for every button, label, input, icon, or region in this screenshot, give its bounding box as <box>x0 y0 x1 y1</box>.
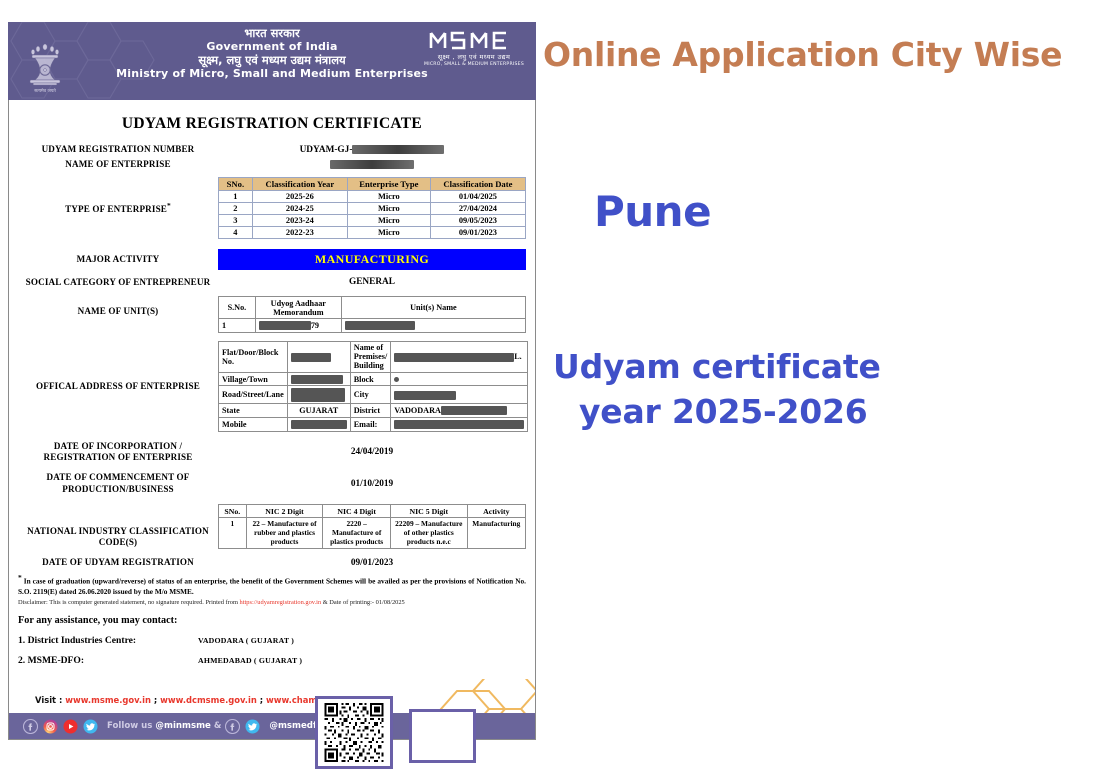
field-label-state: State <box>219 404 288 418</box>
screenshot-root: सत्यमेव जयते भारत सरकार Government of In… <box>0 0 1116 753</box>
header-english-line-2: Ministry of Micro, Small and Medium Ente… <box>8 67 536 80</box>
twitter-icon-secondary[interactable] <box>245 719 260 734</box>
redaction-bar <box>394 377 399 382</box>
major-activity-label: MAJOR ACTIVITY <box>18 254 218 265</box>
field-value-flat <box>287 341 350 372</box>
commencement-date-value: 01/10/2019 <box>218 479 526 489</box>
twitter-icon[interactable] <box>83 719 98 734</box>
units-label: NAME OF UNIT(S) <box>18 296 218 317</box>
visit-link-msme[interactable]: www.msme.gov.in <box>65 695 151 705</box>
table-row: Road/Street/Lane City <box>219 386 528 404</box>
redaction-bar <box>291 388 345 402</box>
field-value-email <box>391 417 528 431</box>
incorporation-date-row: DATE OF INCORPORATION / REGISTRATION OF … <box>18 441 526 464</box>
major-activity-value: MANUFACTURING <box>218 249 526 270</box>
cell-sno: 4 <box>219 226 253 238</box>
nic-table: SNo. NIC 2 Digit NIC 4 Digit NIC 5 Digit… <box>218 504 526 549</box>
table-header-row: S.No. Udyog Aadhaar Memorandum Unit(s) N… <box>219 297 526 319</box>
col-sno: SNo. <box>219 177 253 190</box>
table-row: 1 79 <box>219 319 526 333</box>
annotation-subtitle-line1: Udyam certificate <box>553 347 881 386</box>
msme-wordmark-icon <box>428 30 520 50</box>
field-label-block: Block <box>350 372 391 386</box>
table-row: Flat/Door/Block No. Name of Premises/ Bu… <box>219 341 528 372</box>
cell-date: 01/04/2025 <box>430 190 525 202</box>
col-uam: Udyog Aadhaar Memorandum <box>255 297 341 319</box>
field-label-mobile: Mobile <box>219 417 288 431</box>
follow-us-text: Follow us @minmsme & <box>107 721 221 731</box>
enterprise-name-row: NAME OF ENTERPRISE <box>18 159 526 170</box>
table-row: 1 22 – Manufacture of rubber and plastic… <box>219 518 526 549</box>
udyam-registration-date-label: DATE OF UDYAM REGISTRATION <box>18 557 218 568</box>
col-unit-name: Unit(s) Name <box>341 297 525 319</box>
field-label-city: City <box>350 386 391 404</box>
cell-type: Micro <box>347 226 430 238</box>
units-row: NAME OF UNIT(S) S.No. Udyog Aadhaar Memo… <box>18 296 526 333</box>
table-row: 3 2023-24 Micro 09/05/2023 <box>219 214 526 226</box>
disclaimer-suffix: & Date of printing:- 01/08/2025 <box>321 599 405 606</box>
col-activity: Activity <box>467 505 525 518</box>
certificate-title: UDYAM REGISTRATION CERTIFICATE <box>18 115 526 133</box>
table-row: Village/Town Block <box>219 372 528 386</box>
redaction-bar <box>259 321 311 330</box>
table-row: 4 2022-23 Micro 09/01/2023 <box>219 226 526 238</box>
field-value-district: VADODARA <box>391 404 528 418</box>
col-sno: SNo. <box>219 505 247 518</box>
asterisk-marker: * <box>167 201 171 210</box>
contact-label: 1. District Industries Centre: <box>18 635 198 646</box>
cell-date: 27/04/2024 <box>430 202 525 214</box>
cell-sno: 1 <box>219 518 247 549</box>
col-classification-date: Classification Date <box>430 177 525 190</box>
social-category-row: SOCIAL CATEGORY OF ENTREPRENEUR GENERAL <box>18 277 526 288</box>
field-label-email: Email: <box>350 417 391 431</box>
visit-sep: ; <box>257 695 266 705</box>
annotation-panel: Online Application City Wise Pune Udyam … <box>540 0 1116 753</box>
disclaimer-line: Disclaimer: This is computer generated s… <box>18 599 526 607</box>
field-value-city <box>391 386 528 404</box>
col-nic-5-digit: NIC 5 Digit <box>390 505 467 518</box>
msme-logo-subtitle-english: MICRO, SMALL & MEDIUM ENTERPRISES <box>422 62 526 67</box>
cell-uam: 79 <box>255 319 341 333</box>
cell-sno: 1 <box>219 319 256 333</box>
empty-placeholder-box <box>409 709 476 763</box>
redaction-bar <box>291 353 331 362</box>
field-value-mobile <box>287 417 350 431</box>
redaction-bar <box>394 391 456 400</box>
registration-number-label: UDYAM REGISTRATION NUMBER <box>18 144 218 155</box>
contact-label: 2. MSME-DFO: <box>18 655 198 666</box>
cell-sno: 1 <box>219 190 253 202</box>
follow-handle-minmsme[interactable]: @minmsme <box>155 721 210 731</box>
enterprise-type-table: SNo. Classification Year Enterprise Type… <box>218 177 526 239</box>
table-row: 1 2025-26 Micro 01/04/2025 <box>219 190 526 202</box>
facebook-icon[interactable] <box>23 719 38 734</box>
svg-text:सत्यमेव जयते: सत्यमेव जयते <box>34 88 56 94</box>
col-nic-4-digit: NIC 4 Digit <box>323 505 391 518</box>
cell-year: 2022-23 <box>252 226 347 238</box>
cell-nic-4-digit: 2220 – Manufacture of plastics products <box>323 518 391 549</box>
cell-year: 2023-24 <box>252 214 347 226</box>
redaction-bar <box>394 420 524 429</box>
cell-year: 2024-25 <box>252 202 347 214</box>
field-value-premises: L. <box>391 341 528 372</box>
cell-unit-name <box>341 319 525 333</box>
field-label-premises: Name of Premises/ Building <box>350 341 391 372</box>
field-value-state: GUJARAT <box>287 404 350 418</box>
disclaimer-url[interactable]: https://udyamregistration.gov.in <box>240 599 322 606</box>
annotation-subtitle-line2: year 2025-2026 <box>579 390 881 435</box>
udyam-registration-date-row: DATE OF UDYAM REGISTRATION 09/01/2023 <box>18 557 526 568</box>
cell-date: 09/05/2023 <box>430 214 525 226</box>
government-header-banner: सत्यमेव जयते भारत सरकार Government of In… <box>8 22 536 100</box>
redaction-bar <box>291 420 347 429</box>
youtube-icon[interactable] <box>63 719 78 734</box>
cell-type: Micro <box>347 202 430 214</box>
contact-value: AHMEDABAD ( GUJARAT ) <box>198 656 302 665</box>
qr-code-image <box>320 701 388 764</box>
registration-number-value: UDYAM-GJ- <box>218 145 526 155</box>
social-category-label: SOCIAL CATEGORY OF ENTREPRENEUR <box>18 277 218 288</box>
redaction-bar <box>330 160 414 169</box>
incorporation-date-value: 24/04/2019 <box>218 447 526 457</box>
udyam-registration-date-value: 09/01/2023 <box>218 558 526 568</box>
contact-item-dfo: 2. MSME-DFO: AHMEDABAD ( GUJARAT ) <box>18 655 526 666</box>
cell-nic-5-digit: 22209 – Manufacture of other plastics pr… <box>390 518 467 549</box>
udyam-certificate-panel: सत्यमेव जयते भारत सरकार Government of In… <box>8 22 536 740</box>
incorporation-date-label: DATE OF INCORPORATION / REGISTRATION OF … <box>18 441 218 464</box>
cell-sno: 2 <box>219 202 253 214</box>
registration-number-prefix: UDYAM-GJ- <box>300 145 353 155</box>
field-label-flat: Flat/Door/Block No. <box>219 341 288 372</box>
social-category-value: GENERAL <box>218 277 526 287</box>
enterprise-name-label: NAME OF ENTERPRISE <box>18 159 218 170</box>
table-header-row: SNo. NIC 2 Digit NIC 4 Digit NIC 5 Digit… <box>219 505 526 518</box>
cell-date: 09/01/2023 <box>430 226 525 238</box>
graduation-footnote: * In case of graduation (upward/reverse)… <box>18 573 526 596</box>
table-row: State GUJARAT District VADODARA <box>219 404 528 418</box>
footnote-text: In case of graduation (upward/reverse) o… <box>18 577 526 596</box>
registration-number-row: UDYAM REGISTRATION NUMBER UDYAM-GJ- <box>18 144 526 155</box>
table-header-row: SNo. Classification Year Enterprise Type… <box>219 177 526 190</box>
msme-logo: सूक्ष्म , लघु एवं मध्यम उद्यम MICRO, SMA… <box>422 30 526 67</box>
field-value-road <box>287 386 350 404</box>
commencement-date-label: DATE OF COMMENCEMENT OF PRODUCTION/BUSIN… <box>18 472 218 495</box>
field-value-block <box>391 372 528 386</box>
major-activity-row: MAJOR ACTIVITY MANUFACTURING <box>18 249 526 270</box>
contact-value: VADODARA ( GUJARAT ) <box>198 636 294 645</box>
table-row: 2 2024-25 Micro 27/04/2024 <box>219 202 526 214</box>
col-enterprise-type: Enterprise Type <box>347 177 430 190</box>
annotation-title: Online Application City Wise <box>543 35 1062 74</box>
cell-type: Micro <box>347 214 430 226</box>
redaction-bar <box>352 145 444 154</box>
annotation-subtitle: Udyam certificate year 2025-2026 <box>553 345 881 434</box>
col-classification-year: Classification Year <box>252 177 347 190</box>
assistance-title: For any assistance, you may contact: <box>18 615 526 626</box>
cell-sno: 3 <box>219 214 253 226</box>
nic-row: NATIONAL INDUSTRY CLASSIFICATION CODE(S)… <box>18 504 526 549</box>
annotation-city: Pune <box>594 187 711 236</box>
visit-link-dcmsme[interactable]: www.dcmsme.gov.in <box>160 695 257 705</box>
address-table: Flat/Door/Block No. Name of Premises/ Bu… <box>218 341 528 432</box>
redaction-bar <box>345 321 415 330</box>
field-label-district: District <box>350 404 391 418</box>
table-row: Mobile Email: <box>219 417 528 431</box>
asterisk-marker: * <box>18 573 22 582</box>
address-label: OFFICAL ADDRESS OF ENTERPRISE <box>18 341 218 392</box>
units-table: S.No. Udyog Aadhaar Memorandum Unit(s) N… <box>218 296 526 333</box>
cell-nic-2-digit: 22 – Manufacture of rubber and plastics … <box>246 518 323 549</box>
col-nic-2-digit: NIC 2 Digit <box>246 505 323 518</box>
field-label-village: Village/Town <box>219 372 288 386</box>
follow-prefix: Follow us <box>107 721 155 731</box>
visit-sep: ; <box>151 695 160 705</box>
contact-item-dic: 1. District Industries Centre: VADODARA … <box>18 635 526 646</box>
redaction-bar <box>291 375 343 384</box>
facebook-icon-secondary[interactable] <box>225 719 240 734</box>
qr-code[interactable] <box>315 696 393 769</box>
enterprise-type-label: TYPE OF ENTERPRISE* <box>18 177 218 215</box>
cell-year: 2025-26 <box>252 190 347 202</box>
instagram-icon[interactable] <box>43 719 58 734</box>
cell-type: Micro <box>347 190 430 202</box>
col-sno: S.No. <box>219 297 256 319</box>
disclaimer-prefix: Disclaimer: This is computer generated s… <box>18 599 240 606</box>
certificate-body: UDYAM REGISTRATION CERTIFICATE UDYAM REG… <box>8 100 536 740</box>
follow-amp: & <box>211 721 222 731</box>
enterprise-type-row: TYPE OF ENTERPRISE* SNo. Classification … <box>18 177 526 239</box>
msme-logo-subtitle-hindi: सूक्ष्म , लघु एवं मध्यम उद्यम <box>422 52 526 61</box>
field-label-road: Road/Street/Lane <box>219 386 288 404</box>
visit-prefix: Visit : <box>35 695 65 705</box>
nic-label: NATIONAL INDUSTRY CLASSIFICATION CODE(S) <box>18 504 218 549</box>
field-value-village <box>287 372 350 386</box>
redaction-bar <box>394 353 514 362</box>
redaction-bar <box>441 406 507 415</box>
enterprise-name-value <box>218 160 526 170</box>
address-row: OFFICAL ADDRESS OF ENTERPRISE Flat/Door/… <box>18 341 526 432</box>
cell-activity: Manufacturing <box>467 518 525 549</box>
commencement-date-row: DATE OF COMMENCEMENT OF PRODUCTION/BUSIN… <box>18 472 526 495</box>
